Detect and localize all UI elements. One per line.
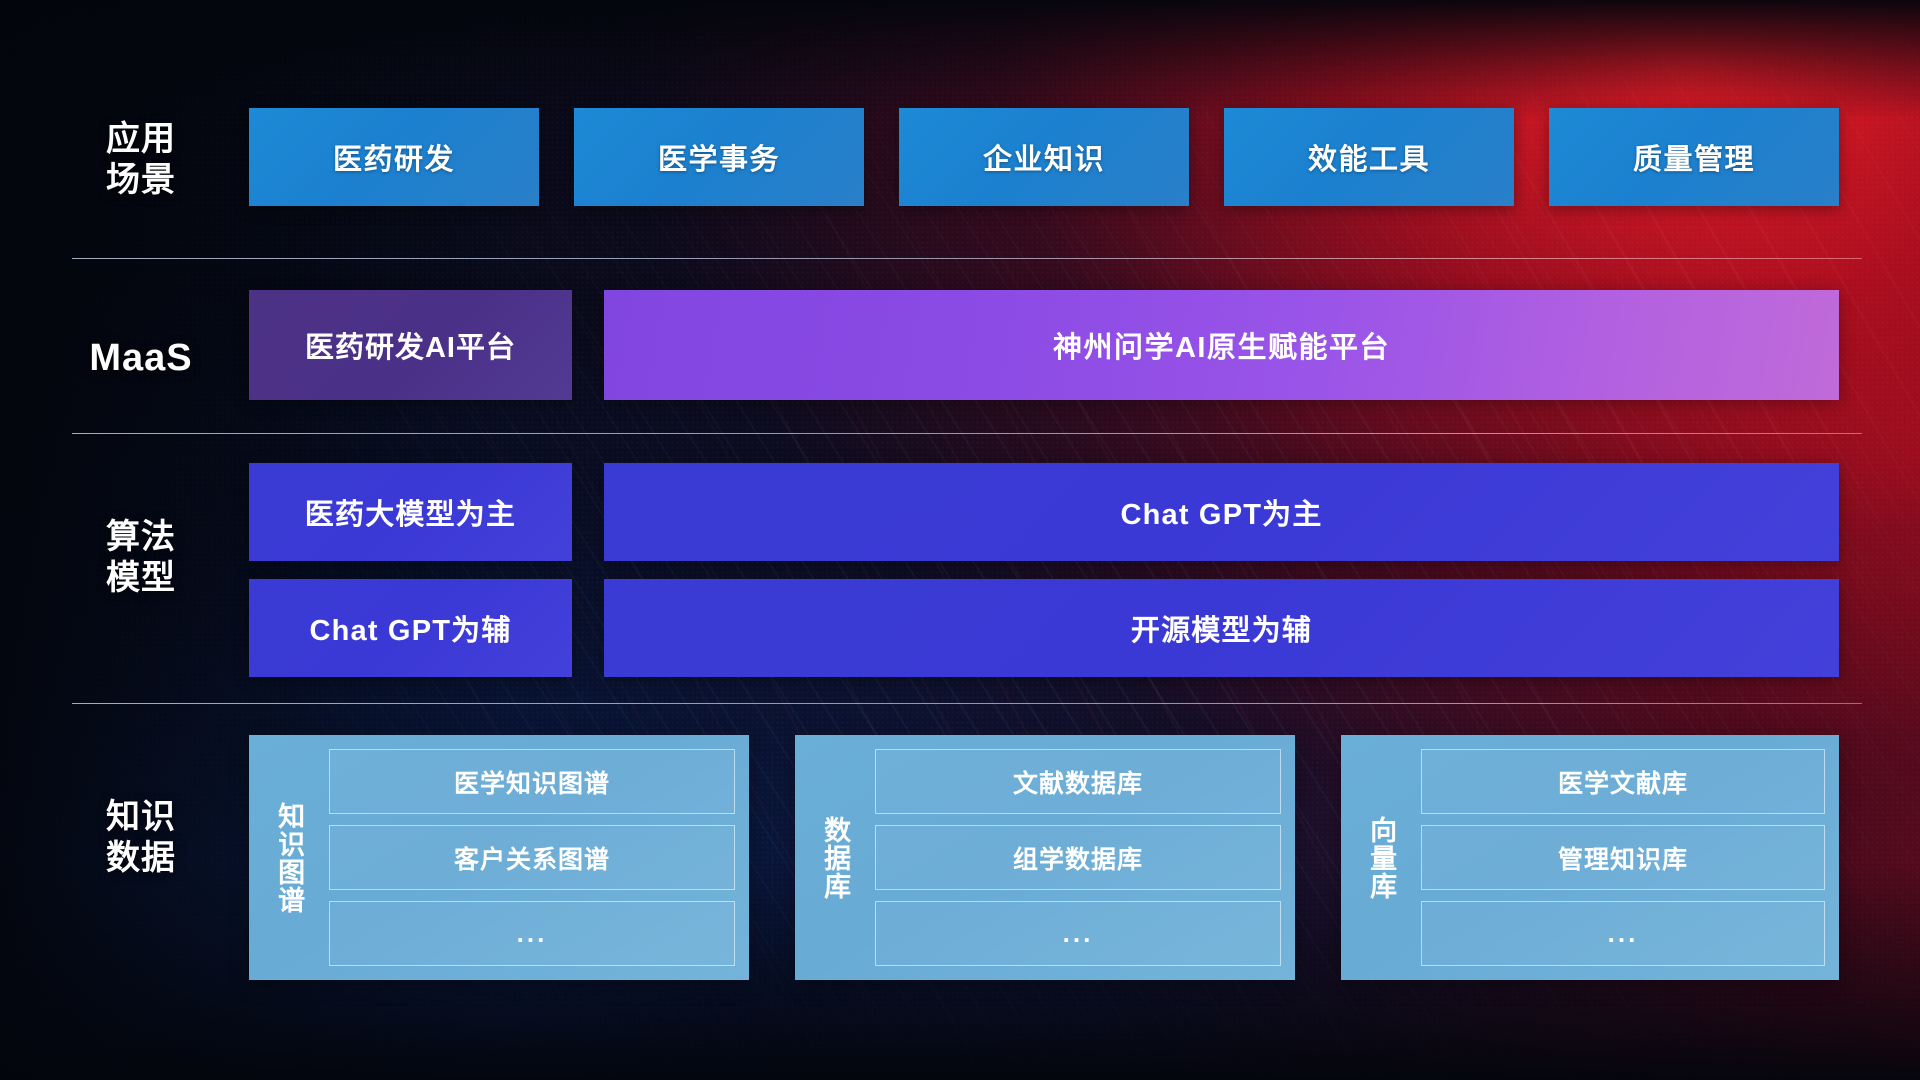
algo-box-label: 医药大模型为主 bbox=[305, 491, 516, 533]
divider-after-algorithm-models bbox=[72, 703, 1862, 704]
maas-box-shenzhou-wenxue-platform[interactable]: 神州问学AI原生赋能平台 bbox=[604, 290, 1839, 400]
knowledge-item-more[interactable]: ... bbox=[329, 901, 735, 966]
knowledge-item-customer-relation-graph[interactable]: 客户关系图谱 bbox=[329, 825, 735, 890]
maas-box-label: 医药研发AI平台 bbox=[305, 324, 516, 366]
tier-application-scenarios: 医药研发 医学事务 企业知识 效能工具 质量管理 bbox=[0, 108, 1920, 206]
knowledge-group-title: 向量库 bbox=[1353, 749, 1409, 966]
divider-after-maas bbox=[72, 433, 1862, 434]
maas-box-pharma-ai-platform[interactable]: 医药研发AI平台 bbox=[249, 290, 572, 400]
slide-canvas: 应用 场景 医药研发 医学事务 企业知识 效能工具 质量管理 MaaS 医药研发… bbox=[0, 0, 1920, 1080]
app-box-label: 效能工具 bbox=[1308, 136, 1430, 178]
app-box-label: 医药研发 bbox=[333, 136, 455, 178]
knowledge-group-database[interactable]: 数据库 文献数据库 组学数据库 ... bbox=[795, 735, 1295, 980]
knowledge-group-title: 知识图谱 bbox=[261, 749, 317, 966]
knowledge-item-label: ... bbox=[1063, 918, 1094, 949]
knowledge-item-literature-database[interactable]: 文献数据库 bbox=[875, 749, 1281, 814]
tier-label-algorithm-models: 算法 模型 bbox=[76, 517, 206, 599]
app-box-quality-management[interactable]: 质量管理 bbox=[1549, 108, 1839, 206]
app-box-efficiency-tools[interactable]: 效能工具 bbox=[1224, 108, 1514, 206]
knowledge-item-label: ... bbox=[517, 918, 548, 949]
knowledge-item-management-knowledge-store[interactable]: 管理知识库 bbox=[1421, 825, 1825, 890]
knowledge-group-items: 医学知识图谱 客户关系图谱 ... bbox=[317, 749, 735, 966]
algo-box-pharma-large-model-primary[interactable]: 医药大模型为主 bbox=[249, 463, 572, 561]
knowledge-item-label: 客户关系图谱 bbox=[454, 840, 610, 876]
knowledge-item-label: ... bbox=[1608, 918, 1639, 949]
algo-box-label: Chat GPT为辅 bbox=[309, 607, 511, 649]
knowledge-item-omics-database[interactable]: 组学数据库 bbox=[875, 825, 1281, 890]
knowledge-group-items: 医学文献库 管理知识库 ... bbox=[1409, 749, 1825, 966]
knowledge-item-more[interactable]: ... bbox=[1421, 901, 1825, 966]
app-box-label: 质量管理 bbox=[1633, 136, 1755, 178]
algo-box-opensource-model-secondary[interactable]: 开源模型为辅 bbox=[604, 579, 1839, 677]
knowledge-group-knowledge-graph[interactable]: 知识图谱 医学知识图谱 客户关系图谱 ... bbox=[249, 735, 749, 980]
algo-box-label: Chat GPT为主 bbox=[1120, 491, 1322, 533]
knowledge-group-vector-store[interactable]: 向量库 医学文献库 管理知识库 ... bbox=[1341, 735, 1839, 980]
knowledge-item-more[interactable]: ... bbox=[875, 901, 1281, 966]
knowledge-item-medical-knowledge-graph[interactable]: 医学知识图谱 bbox=[329, 749, 735, 814]
algo-box-chatgpt-secondary[interactable]: Chat GPT为辅 bbox=[249, 579, 572, 677]
knowledge-group-title: 数据库 bbox=[807, 749, 863, 966]
knowledge-item-medical-literature-store[interactable]: 医学文献库 bbox=[1421, 749, 1825, 814]
app-box-medical-affairs[interactable]: 医学事务 bbox=[574, 108, 864, 206]
divider-after-application-scenarios bbox=[72, 258, 1862, 259]
knowledge-item-label: 管理知识库 bbox=[1558, 840, 1688, 876]
knowledge-item-label: 组学数据库 bbox=[1013, 840, 1143, 876]
tier-knowledge-data: 知识图谱 医学知识图谱 客户关系图谱 ... 数据库 文献数据库 组学数据库 .… bbox=[0, 735, 1920, 980]
app-box-pharma-rd[interactable]: 医药研发 bbox=[249, 108, 539, 206]
app-box-label: 医学事务 bbox=[658, 136, 780, 178]
knowledge-group-items: 文献数据库 组学数据库 ... bbox=[863, 749, 1281, 966]
knowledge-item-label: 医学文献库 bbox=[1558, 764, 1688, 800]
algo-box-label: 开源模型为辅 bbox=[1131, 607, 1312, 649]
app-box-label: 企业知识 bbox=[983, 136, 1105, 178]
algo-box-chatgpt-primary[interactable]: Chat GPT为主 bbox=[604, 463, 1839, 561]
knowledge-item-label: 文献数据库 bbox=[1013, 764, 1143, 800]
app-box-enterprise-knowledge[interactable]: 企业知识 bbox=[899, 108, 1189, 206]
maas-box-label: 神州问学AI原生赋能平台 bbox=[1053, 324, 1390, 366]
tier-maas: 医药研发AI平台 神州问学AI原生赋能平台 bbox=[0, 290, 1920, 400]
knowledge-item-label: 医学知识图谱 bbox=[454, 764, 610, 800]
